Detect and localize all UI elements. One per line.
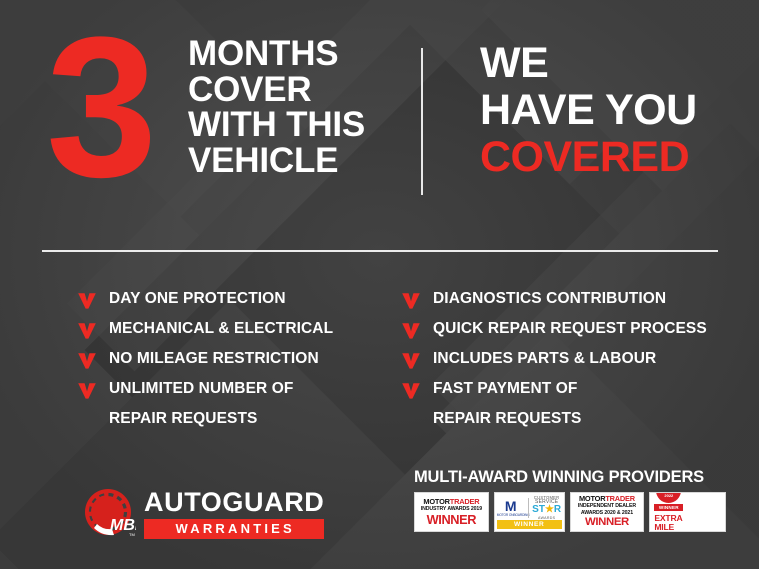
- features-column-right: DIAGNOSTICS CONTRIBUTION QUICK REPAIR RE…: [400, 288, 707, 438]
- award-badge-customer-service-star: M MOTOR ONBOARDING CUSTOMER SERVICE ST★R…: [494, 492, 565, 532]
- brand-name: AUTOGUARD: [144, 489, 324, 516]
- brand-subtitle: WARRANTIES: [144, 519, 324, 539]
- awards-title: MULTI-AWARD WINNING PROVIDERS: [414, 468, 726, 486]
- cover-headline-line: COVER: [188, 72, 365, 108]
- check-icon: [76, 380, 98, 402]
- feature-item: INCLUDES PARTS & LABOUR: [400, 348, 707, 378]
- feature-item: UNLIMITED NUMBER OF: [76, 378, 333, 408]
- check-icon: [400, 320, 422, 342]
- svg-text:TM: TM: [129, 532, 135, 537]
- cover-headline-line: VEHICLE: [188, 143, 365, 179]
- feature-label: REPAIR REQUESTS: [433, 408, 582, 430]
- hero-section: 3 MONTHS COVER WITH THIS VEHICLE WE HAVE…: [0, 0, 759, 240]
- tagline-highlight: COVERED: [480, 134, 697, 181]
- badge-text: EXTRA MILE AWARD VOTED FOR BY OUR DEALER…: [652, 514, 723, 533]
- horizontal-divider: [42, 250, 718, 252]
- seal-circle: Dealer POWER 2022: [656, 492, 681, 503]
- tagline-line: HAVE YOU: [480, 87, 697, 134]
- awards-section: MULTI-AWARD WINNING PROVIDERS MOTORTRADE…: [414, 468, 726, 532]
- feature-label: REPAIR REQUESTS: [109, 408, 258, 430]
- star-icon: ★: [545, 504, 554, 515]
- cover-headline-line: MONTHS: [188, 36, 365, 72]
- dealer-power-seal-icon: Dealer POWER 2022 WINNER: [653, 492, 684, 510]
- badge-star-post: R: [554, 504, 561, 515]
- award-badge-extra-mile-2022: Dealer POWER 2022 WINNER EXTRA MILE AWAR…: [649, 492, 726, 532]
- badge-logo: M MOTOR ONBOARDING: [497, 499, 525, 517]
- seal-winner-ribbon: WINNER: [654, 504, 683, 511]
- badge-body: M MOTOR ONBOARDING CUSTOMER SERVICE ST★R…: [497, 495, 562, 521]
- badge-winner-label: WINNER: [418, 513, 485, 526]
- badge-separator: [528, 498, 529, 518]
- feature-label: UNLIMITED NUMBER OF: [109, 378, 293, 400]
- tagline: WE HAVE YOU COVERED: [480, 40, 697, 181]
- check-icon: [400, 380, 422, 402]
- badge-seal: Dealer POWER 2022 WINNER: [652, 492, 685, 510]
- badge-text: CUSTOMER SERVICE ST★R AWARDS: [532, 495, 562, 521]
- badge-brand-black: MOTOR: [579, 494, 605, 503]
- feature-label: DAY ONE PROTECTION: [109, 288, 286, 310]
- feature-item: DAY ONE PROTECTION: [76, 288, 333, 318]
- feature-item: DIAGNOSTICS CONTRIBUTION: [400, 288, 707, 318]
- feature-label: FAST PAYMENT OF: [433, 378, 577, 400]
- feature-item-continuation: REPAIR REQUESTS: [400, 408, 707, 438]
- feature-label: INCLUDES PARTS & LABOUR: [433, 348, 656, 370]
- cover-headline-line: WITH THIS: [188, 107, 365, 143]
- award-badge-motortrader-industry-2019: MOTORTRADER INDUSTRY AWARDS 2019 WINNER: [414, 492, 489, 532]
- award-badge-motortrader-independent-dealer: MOTORTRADER INDEPENDENT DEALER AWARDS 20…: [570, 492, 645, 532]
- badge-logo-sub: MOTOR ONBOARDING: [497, 513, 525, 517]
- cover-headline: MONTHS COVER WITH THIS VEHICLE: [188, 36, 365, 178]
- badge-winner-ribbon: WINNER: [497, 520, 562, 529]
- feature-item: FAST PAYMENT OF: [400, 378, 707, 408]
- cover-months-number: 3: [46, 8, 151, 208]
- vertical-divider: [421, 48, 423, 195]
- feature-label: QUICK REPAIR REQUEST PROCESS: [433, 318, 707, 340]
- tagline-line: WE: [480, 40, 697, 87]
- warranty-promo-poster: 3 MONTHS COVER WITH THIS VEHICLE WE HAVE…: [0, 0, 759, 569]
- feature-item: QUICK REPAIR REQUEST PROCESS: [400, 318, 707, 348]
- check-icon: [76, 320, 98, 342]
- check-icon: [76, 290, 98, 312]
- badge-brand-red: TRADER: [605, 494, 635, 503]
- badge-brand-red: TRADER: [450, 497, 480, 506]
- check-icon-placeholder: [76, 410, 98, 432]
- feature-label: NO MILEAGE RESTRICTION: [109, 348, 319, 370]
- autoguard-logo: MBi TM AUTOGUARD WARRANTIES: [82, 487, 324, 541]
- brand-wordmark: AUTOGUARD WARRANTIES: [144, 489, 324, 539]
- check-icon: [400, 290, 422, 312]
- check-icon: [76, 350, 98, 372]
- check-icon-placeholder: [400, 410, 422, 432]
- badge-star-pre: ST: [532, 504, 545, 515]
- feature-label: MECHANICAL & ELECTRICAL: [109, 318, 333, 340]
- badge-brand-black: MOTOR: [423, 497, 449, 506]
- badge-winner-label: WINNER: [574, 516, 641, 529]
- badge-logo-letter: M: [497, 499, 525, 513]
- feature-item: MECHANICAL & ELECTRICAL: [76, 318, 333, 348]
- feature-item: NO MILEAGE RESTRICTION: [76, 348, 333, 378]
- mbi-emblem-icon: MBi TM: [82, 487, 136, 541]
- badge-star-line: ST★R: [532, 505, 562, 516]
- badge-brand: MOTORTRADER: [418, 498, 485, 506]
- feature-item-continuation: REPAIR REQUESTS: [76, 408, 333, 438]
- seal-year: 2022: [664, 494, 673, 498]
- check-icon: [400, 350, 422, 372]
- feature-label: DIAGNOSTICS CONTRIBUTION: [433, 288, 666, 310]
- features-column-left: DAY ONE PROTECTION MECHANICAL & ELECTRIC…: [76, 288, 333, 438]
- badge-brand: MOTORTRADER: [574, 495, 641, 503]
- award-badge-row: MOTORTRADER INDUSTRY AWARDS 2019 WINNER …: [414, 492, 726, 532]
